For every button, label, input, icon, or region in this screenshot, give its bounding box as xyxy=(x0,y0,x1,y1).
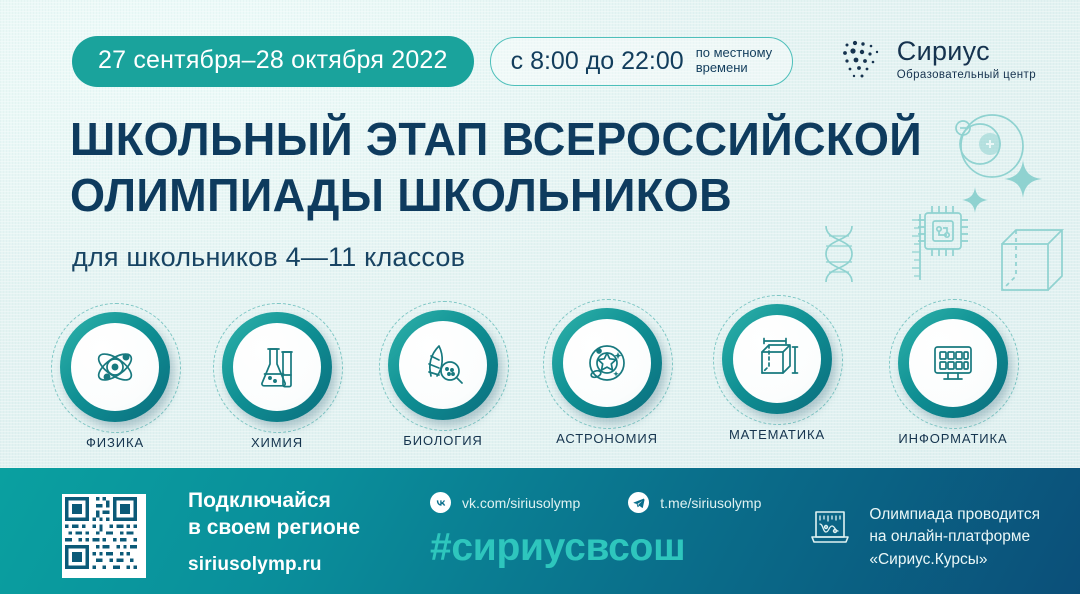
atom-icon xyxy=(90,342,140,392)
platform-text: Олимпиада проводится на онлайн-платформе… xyxy=(869,504,1040,571)
social-link-vk[interactable]: vk.com/siriusolymp xyxy=(430,492,580,513)
badge xyxy=(898,308,1008,418)
social-link-telegram[interactable]: t.me/siriusolymp xyxy=(628,492,761,513)
cube-ruler-icon xyxy=(752,334,802,384)
badge xyxy=(222,312,332,422)
subject-label: ИНФОРМАТИКА xyxy=(888,431,1018,446)
logo-name: Сириус xyxy=(897,38,1036,65)
badge xyxy=(60,312,170,422)
hero-subtitle: для школьников 4—11 классов xyxy=(72,242,465,273)
date-pill: 27 сентября–28 октября 2022 xyxy=(72,36,474,87)
logo-text: Сириус Образовательный центр xyxy=(897,38,1036,81)
star-orbit-icon xyxy=(582,338,632,388)
qr-code-icon[interactable] xyxy=(62,494,146,578)
platform-line2: на онлайн-платформе xyxy=(869,528,1030,545)
badge-disc xyxy=(563,319,651,407)
hero-title-line1: ШКОЛЬНЫЙ ЭТАП ВСЕРОССИЙСКОЙ xyxy=(70,112,932,168)
platform-line1: Олимпиада проводится xyxy=(869,506,1040,523)
badge-disc xyxy=(909,319,997,407)
vk-icon xyxy=(430,492,451,513)
sirius-logo: Сириус Образовательный центр xyxy=(838,36,1036,82)
subject-label: ФИЗИКА xyxy=(50,435,180,450)
subject-item-chemistry[interactable]: ХИМИЯ xyxy=(212,312,342,450)
flask-icon xyxy=(253,343,301,391)
badge xyxy=(388,310,498,420)
connect-line2: в своем регионе xyxy=(188,515,360,542)
promo-banner: 27 сентября–28 октября 2022 с 8:00 до 22… xyxy=(0,0,1080,594)
badge-disc xyxy=(71,323,159,411)
social-link-text: t.me/siriusolymp xyxy=(660,495,761,511)
website-link[interactable]: siriusolymp.ru xyxy=(188,554,360,576)
subject-item-astronomy[interactable]: АСТРОНОМИЯ xyxy=(542,308,672,446)
subject-label: АСТРОНОМИЯ xyxy=(542,431,672,446)
platform-line3: «Сириус.Курсы» xyxy=(869,551,987,568)
telegram-icon xyxy=(628,492,649,513)
hero-title: ШКОЛЬНЫЙ ЭТАП ВСЕРОССИЙСКОЙ ОЛИМПИАДЫ ШК… xyxy=(70,112,950,223)
subject-label: БИОЛОГИЯ xyxy=(378,433,508,448)
time-pill: с 8:00 до 22:00 по местному времени xyxy=(490,37,794,86)
hashtag: #сириусвсош xyxy=(430,526,685,570)
laptop-icon xyxy=(807,504,853,555)
badge xyxy=(722,304,832,414)
time-note-line1: по местному xyxy=(696,45,773,60)
badge-disc xyxy=(233,323,321,411)
platform-block: Олимпиада проводится на онлайн-платформе… xyxy=(807,504,1040,571)
subject-item-biology[interactable]: БИОЛОГИЯ xyxy=(378,310,508,448)
logo-subtitle: Образовательный центр xyxy=(897,69,1036,81)
time-note-line2: времени xyxy=(696,60,748,75)
sirius-dots-icon xyxy=(838,36,884,82)
hero-title-line2: ОЛИМПИАДЫ ШКОЛЬНИКОВ xyxy=(70,168,932,224)
subject-list: ФИЗИКА ХИМИЯ xyxy=(0,300,1080,460)
time-note: по местному времени xyxy=(696,46,773,76)
header-pills: 27 сентября–28 октября 2022 с 8:00 до 22… xyxy=(72,36,793,87)
social-links: vk.com/siriusolymp t.me/siriusolymp xyxy=(430,492,761,513)
subject-item-physics[interactable]: ФИЗИКА xyxy=(50,312,180,450)
connect-block: Подключайся в своем регионе siriusolymp.… xyxy=(188,488,360,576)
connect-line1: Подключайся xyxy=(188,488,360,515)
subject-label: ХИМИЯ xyxy=(212,435,342,450)
subject-item-math[interactable]: МАТЕМАТИКА xyxy=(712,304,842,442)
badge-disc xyxy=(399,321,487,409)
subject-label: МАТЕМАТИКА xyxy=(712,427,842,442)
badge xyxy=(552,308,662,418)
monitor-binary-icon xyxy=(928,338,978,388)
footer: Подключайся в своем регионе siriusolymp.… xyxy=(0,468,1080,594)
social-link-text: vk.com/siriusolymp xyxy=(462,495,580,511)
leaf-magnifier-icon xyxy=(418,340,468,390)
time-range: с 8:00 до 22:00 xyxy=(511,47,684,76)
subject-item-informatics[interactable]: ИНФОРМАТИКА xyxy=(888,308,1018,446)
badge-disc xyxy=(733,315,821,403)
